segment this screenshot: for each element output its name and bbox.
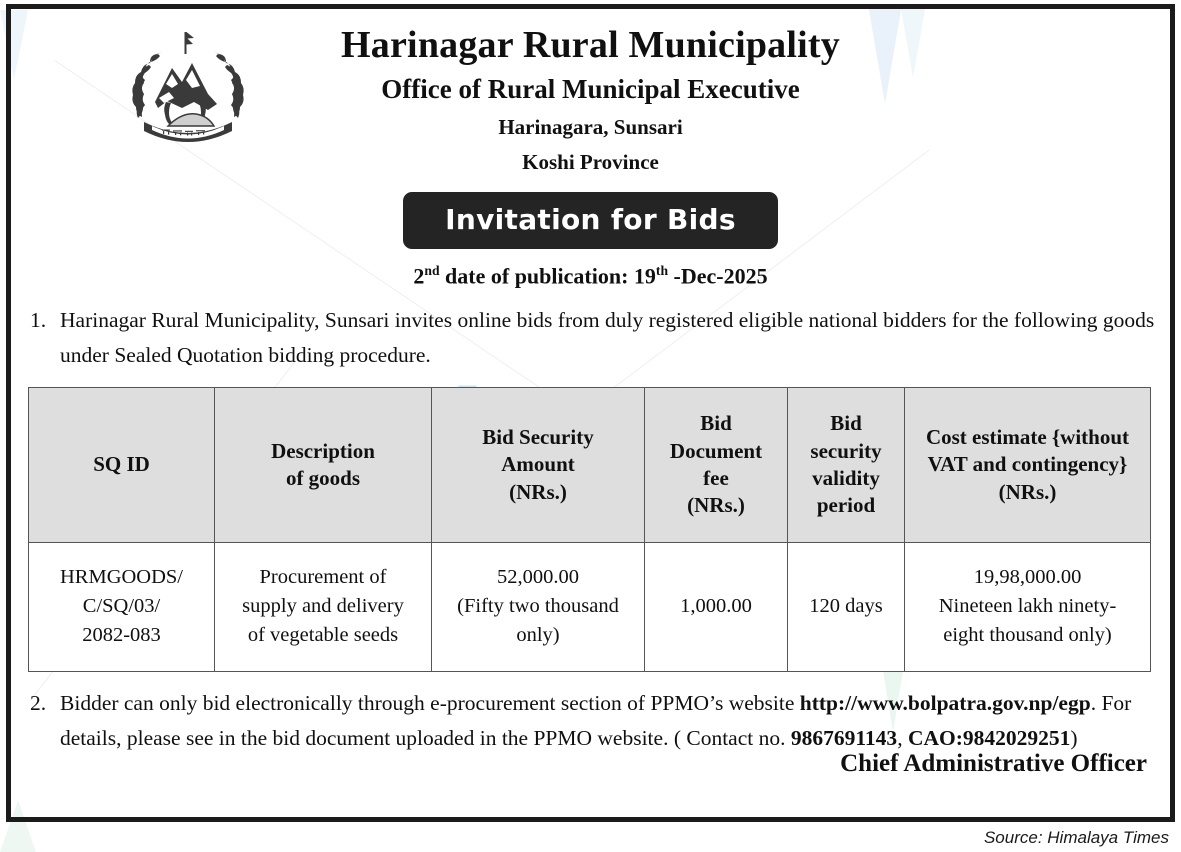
clause-2-lead: Bidder can only bid electronically throu… — [60, 691, 800, 715]
bid-details-table: SQ ID Descriptionof goods Bid SecurityAm… — [28, 387, 1151, 672]
publication-date-middle: date of publication: 19 — [440, 263, 656, 288]
clause-1: 1. Harinagar Rural Municipality, Sunsari… — [26, 303, 1155, 373]
header-sq-id: SQ ID — [29, 387, 215, 542]
publication-date-line: 2nd date of publication: 19th -Dec-2025 — [26, 263, 1155, 289]
clause-2-text: Bidder can only bid electronically throu… — [60, 686, 1155, 756]
publication-date-prefix: 2 — [413, 263, 424, 288]
header-cost-estimate: Cost estimate {without VAT and contingen… — [905, 387, 1151, 542]
publication-date-prefix-sup: nd — [424, 263, 439, 278]
cell-bid-security-amount: 52,000.00(Fifty two thousandonly) — [432, 542, 645, 671]
newspaper-notice-page: suchana redefining how you access the ne… — [0, 0, 1181, 852]
clause-1-text: Harinagar Rural Municipality, Sunsari in… — [60, 303, 1155, 373]
clause-2-number: 2. — [26, 686, 60, 756]
header-bid-document-fee: BidDocumentfee(NRs.) — [645, 387, 788, 542]
clause-1-number: 1. — [26, 303, 60, 373]
cell-description: Procurement ofsupply and deliveryof vege… — [215, 542, 432, 671]
publication-date-suffix: -Dec-2025 — [668, 263, 768, 288]
letterhead: Harinagar Rural Municipality Office of R… — [26, 24, 1155, 176]
table-row: HRMGOODS/C/SQ/03/2082-083 Procurement of… — [29, 542, 1151, 671]
cell-bid-security-validity: 120 days — [788, 542, 905, 671]
nepal-government-emblem-icon — [122, 30, 254, 148]
contact-number-primary: 9867691143 — [791, 726, 897, 750]
clause-2: 2. Bidder can only bid electronically th… — [26, 686, 1155, 756]
header-bid-security-amount: Bid SecurityAmount(NRs.) — [432, 387, 645, 542]
notice-content: Harinagar Rural Municipality Office of R… — [0, 0, 1181, 778]
cell-cost-estimate: 19,98,000.00Nineteen lakh ninety-eight t… — [905, 542, 1151, 671]
clause-2-separator: , — [897, 726, 908, 750]
table-header-row: SQ ID Descriptionof goods Bid SecurityAm… — [29, 387, 1151, 542]
source-credit: Source: Himalaya Times — [984, 828, 1169, 848]
header-bid-security-validity: Bidsecurityvalidityperiod — [788, 387, 905, 542]
contact-number-cao: CAO:9842029251 — [908, 726, 1070, 750]
publication-date-day-sup: th — [656, 263, 668, 278]
banner-container: Invitation for Bids — [26, 192, 1155, 249]
invitation-for-bids-banner: Invitation for Bids — [403, 192, 778, 249]
bolpatra-url[interactable]: http://www.bolpatra.gov.np/egp — [800, 691, 1091, 715]
header-description: Descriptionof goods — [215, 387, 432, 542]
cell-bid-document-fee: 1,000.00 — [645, 542, 788, 671]
cell-sq-id: HRMGOODS/C/SQ/03/2082-083 — [29, 542, 215, 671]
office-province: Koshi Province — [26, 149, 1155, 176]
clause-2-tail: ) — [1070, 726, 1077, 750]
